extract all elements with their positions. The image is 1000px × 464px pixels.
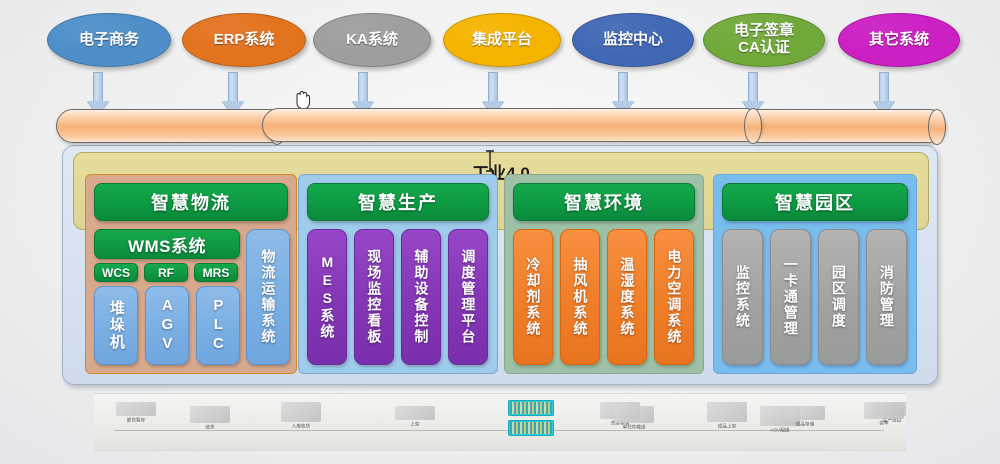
process-node-label: 单托件输送	[606, 424, 661, 430]
process-node-0: 卸货暂存	[108, 402, 164, 424]
pillar-header-smart-park[interactable]: 智慧园区	[722, 183, 908, 221]
pillar-body-smart-production: MES系统现场监控看板辅助设备控制调度管理平台	[307, 227, 489, 365]
pillar-box-smart-environment-1[interactable]: 抽风机系统	[560, 229, 600, 365]
badge-wcs[interactable]: WCS	[94, 263, 138, 282]
pillar-box-smart-park-1[interactable]: 一卡通管理	[770, 229, 811, 365]
logistics-transport-box[interactable]: 物流运输系统	[246, 229, 290, 365]
process-node-art	[395, 406, 435, 420]
pillar-box-smart-park-2[interactable]: 园区调度	[818, 229, 859, 365]
system-ellipse-label: 电子商务	[79, 32, 139, 49]
esb-segment-1	[262, 108, 762, 142]
production-line-card-1	[508, 420, 554, 436]
pillar-box-smart-production-2[interactable]: 辅助设备控制	[401, 229, 441, 365]
system-ellipse-label: ERP系统	[214, 32, 275, 49]
process-node-3: 上架	[382, 406, 448, 428]
logistics-box-0[interactable]: 堆垛机	[94, 286, 138, 365]
pillar-box-smart-production-3[interactable]: 调度管理平台	[448, 229, 488, 365]
pillar-smart-logistics[interactable]: 智慧物流WMS系统WCSRFMRS堆垛机AGVPLC物流运输系统	[85, 174, 297, 374]
logistics-box-2[interactable]: PLC	[196, 286, 240, 365]
process-node-label: 卸货暂存	[110, 417, 162, 423]
badge-rf[interactable]: RF	[144, 263, 188, 282]
pillar-header-smart-environment[interactable]: 智慧环境	[513, 183, 695, 221]
system-ellipse-label: 其它系统	[869, 32, 929, 49]
pillar-box-smart-park-0[interactable]: 监控系统	[722, 229, 763, 365]
logistics-box-1[interactable]: AGV	[145, 286, 189, 365]
system-ellipse-label: 电子签章 CA认证	[734, 23, 794, 57]
esb-segment-0	[56, 109, 286, 143]
pillar-body-smart-park: 监控系统一卡通管理园区调度消防管理	[722, 227, 908, 365]
system-ellipse-label: KA系统	[346, 32, 398, 49]
system-ellipse-0[interactable]: 电子商务	[47, 13, 171, 67]
process-node-10: 装车	[860, 402, 906, 427]
badge-mrs[interactable]: MRS	[194, 263, 238, 282]
process-node-art	[116, 402, 156, 416]
process-node-label: 入库收货	[280, 423, 322, 429]
system-ellipse-3[interactable]: 集成平台	[443, 13, 561, 67]
process-node-8: 成品上架	[700, 402, 754, 430]
process-node-label: 成品存储	[773, 421, 837, 427]
pillar-body-smart-environment: 冷却剂系统抽风机系统温湿度系统电力空调系统	[513, 227, 695, 365]
pillar-box-smart-environment-2[interactable]: 温湿度系统	[607, 229, 647, 365]
pillar-header-smart-production[interactable]: 智慧生产	[307, 183, 489, 221]
process-node-art	[864, 402, 904, 419]
process-node-art	[785, 406, 825, 420]
pillar-box-smart-environment-0[interactable]: 冷却剂系统	[513, 229, 553, 365]
pillar-box-smart-production-0[interactable]: MES系统	[307, 229, 347, 365]
process-node-art	[281, 402, 321, 422]
process-node-2: 入库收货	[278, 402, 324, 430]
system-ellipse-1[interactable]: ERP系统	[182, 13, 306, 67]
process-node-7: 单托件输送	[604, 406, 664, 431]
system-ellipse-5[interactable]: 电子签章 CA认证	[703, 13, 825, 67]
diagram-canvas: 电子商务ERP系统KA系统集成平台监控中心电子签章 CA认证其它系统 ESB企业…	[0, 0, 1000, 464]
process-node-art	[190, 406, 230, 423]
process-node-9: 成品存储	[770, 406, 840, 428]
esb-segment-2	[740, 109, 946, 143]
production-line-card-0	[508, 400, 554, 416]
esb-service-bus[interactable]: ESB企业服务总线-接口管理	[0, 106, 1000, 146]
system-ellipse-6[interactable]: 其它系统	[838, 13, 960, 67]
pillar-header-smart-logistics[interactable]: 智慧物流	[94, 183, 288, 221]
pillar-smart-park[interactable]: 智慧园区监控系统一卡通管理园区调度消防管理	[713, 174, 917, 374]
pillar-box-smart-park-3[interactable]: 消防管理	[866, 229, 907, 365]
system-ellipse-label: 集成平台	[472, 32, 532, 49]
system-ellipse-4[interactable]: 监控中心	[572, 13, 694, 67]
industry40-outer-frame: 工业4.0 智慧物流WMS系统WCSRFMRS堆垛机AGVPLC物流运输系统智慧…	[62, 145, 938, 385]
process-node-art	[707, 402, 747, 422]
process-node-1: 收货	[188, 406, 232, 431]
pillar-smart-environment[interactable]: 智慧环境冷却剂系统抽风机系统温湿度系统电力空调系统	[504, 174, 704, 374]
pillar-body-smart-logistics: WMS系统WCSRFMRS堆垛机AGVPLC物流运输系统	[94, 227, 288, 365]
process-node-label: 成品上架	[702, 423, 752, 429]
pillar-smart-production[interactable]: 智慧生产MES系统现场监控看板辅助设备控制调度管理平台	[298, 174, 498, 374]
process-flow-strip: 卸货暂存收货入库收货上架货架存储AGV配送生产线边单托件输送成品上架成品存储装车	[94, 393, 906, 451]
process-node-label: 收货	[190, 424, 230, 430]
process-node-art	[614, 406, 654, 423]
system-ellipse-label: 监控中心	[603, 32, 663, 49]
process-node-label: 上架	[385, 421, 446, 427]
pillar-box-smart-environment-3[interactable]: 电力空调系统	[654, 229, 694, 365]
process-node-label: 装车	[862, 420, 906, 426]
pillar-box-smart-production-1[interactable]: 现场监控看板	[354, 229, 394, 365]
wms-system-box[interactable]: WMS系统	[94, 229, 240, 259]
system-ellipse-2[interactable]: KA系统	[313, 13, 431, 67]
